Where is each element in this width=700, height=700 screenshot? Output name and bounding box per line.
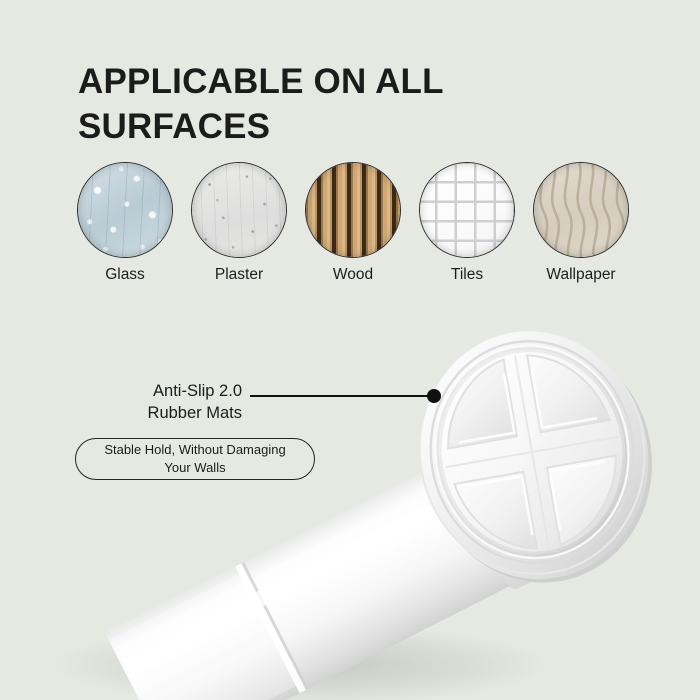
leader-line (250, 395, 434, 397)
product-infographic: APPLICABLE ON ALL SURFACES Glass Plaster… (0, 0, 700, 700)
status-badge: Stable Hold, Without Damaging Your Walls (75, 438, 315, 480)
product-image (0, 0, 700, 700)
leader-dot (427, 389, 441, 403)
callout-title: Anti-Slip 2.0 Rubber Mats (62, 380, 242, 425)
